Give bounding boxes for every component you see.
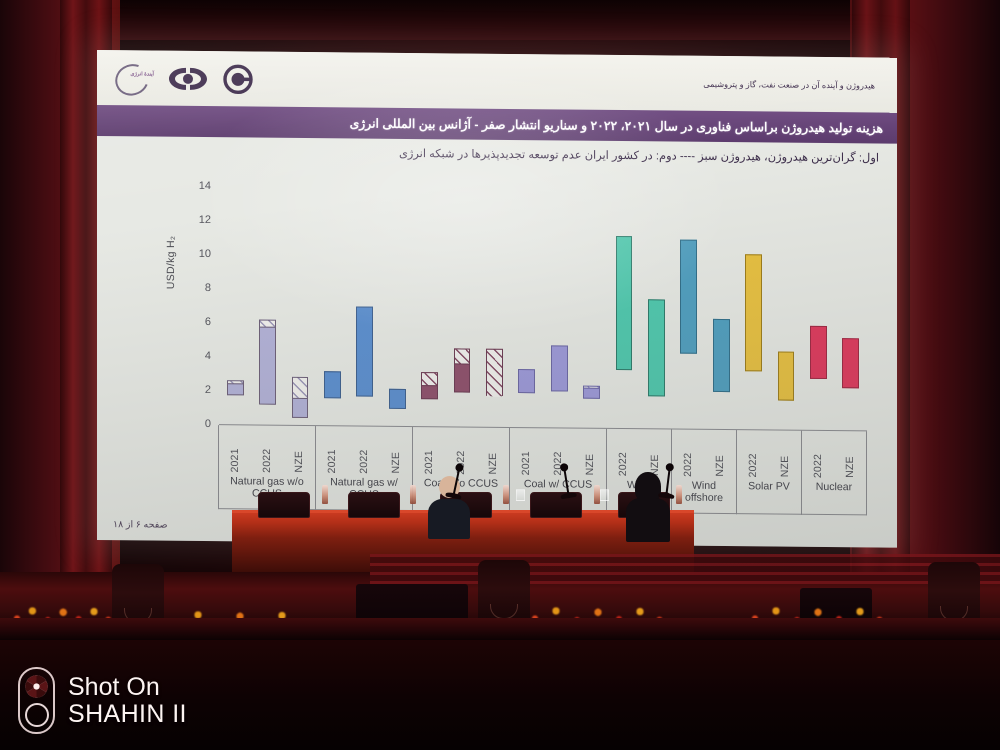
y-axis-tick: 6 xyxy=(185,316,211,328)
chart-bar xyxy=(745,254,762,371)
chart-bar xyxy=(842,338,859,387)
water-bottle xyxy=(322,485,328,504)
chart-bar-hatch-segment xyxy=(228,381,243,385)
chart-bar-hatch-segment xyxy=(455,349,470,364)
chart-bar-hatch-segment xyxy=(422,373,437,387)
x-axis-tick-label: 2022 xyxy=(747,453,759,477)
logo-ring-label: آیندهٔ انرژی xyxy=(130,71,154,78)
y-axis-tick: 0 xyxy=(185,418,211,430)
chart-bar xyxy=(259,319,276,404)
watermark-icon-stack xyxy=(18,667,55,734)
x-axis-tick-label: 2021 xyxy=(326,449,338,473)
camera-aperture-icon xyxy=(24,674,49,699)
chart-bar xyxy=(292,377,309,418)
chart-plot-area xyxy=(219,186,867,430)
y-axis-label: USD/kg H₂ xyxy=(165,236,177,290)
y-axis-tick: 14 xyxy=(185,180,211,192)
x-axis-tick-label: 2021 xyxy=(520,451,532,475)
x-axis-tick-label: NZE xyxy=(584,454,596,476)
water-bottle xyxy=(676,485,682,504)
x-axis-tick: 2021 xyxy=(510,428,542,478)
y-axis-tick: 4 xyxy=(185,350,211,362)
watermark-line-1: Shot On xyxy=(68,674,187,701)
drinking-glass xyxy=(600,489,609,501)
x-axis-tick-label: 2022 xyxy=(358,449,370,473)
x-axis-tick: NZE xyxy=(704,430,736,480)
x-axis-tick: 2021 xyxy=(413,427,445,477)
chart-bar xyxy=(713,318,730,391)
chart-bar xyxy=(486,349,503,397)
x-axis-tick-label: NZE xyxy=(293,451,305,473)
panelist-seated-left xyxy=(428,476,470,539)
x-axis-tick-label: 2022 xyxy=(682,452,694,476)
chart-bar xyxy=(518,369,535,393)
x-axis-tick: NZE xyxy=(283,426,315,476)
chart-bar-hatch-segment xyxy=(584,386,599,389)
auditorium-scene: آیندهٔ انرژی هیدروژن xyxy=(0,0,1000,750)
chart-bar xyxy=(583,385,600,399)
logo-group: آیندهٔ انرژی xyxy=(113,62,253,95)
camera-lens-icon xyxy=(25,703,49,727)
chart-bar xyxy=(648,299,665,396)
chart-bar xyxy=(227,380,244,395)
x-axis-tick: NZE xyxy=(477,428,509,478)
x-axis-tick: 2021 xyxy=(219,425,251,475)
panel-chair xyxy=(258,492,310,518)
x-axis-tick-row: 20212022NZE xyxy=(510,428,606,479)
x-axis-tick: 2022 xyxy=(802,431,834,481)
x-axis-tick: NZE xyxy=(834,431,866,481)
x-axis-tick-label: NZE xyxy=(714,455,726,477)
y-axis-tick: 10 xyxy=(185,248,211,260)
x-axis-tick-label: NZE xyxy=(779,456,791,478)
y-axis-tick: 12 xyxy=(185,214,211,226)
slide-subtitle: اول: گران‌ترین هیدروژن، هیدروژن سبز ----… xyxy=(399,146,879,165)
x-axis-tick: 2022 xyxy=(737,430,769,480)
e-circle-logo-icon xyxy=(223,64,253,94)
chart-bar-hatch-segment xyxy=(487,350,502,398)
chart-bar xyxy=(421,372,438,399)
x-axis-tick: 2022 xyxy=(542,428,574,478)
slide-title: هزینه تولید هیدروژن براساس فناوری در سال… xyxy=(350,115,883,135)
water-bottle xyxy=(410,485,416,504)
hydrogen-cost-chart: USD/kg H₂ 02468101214 20212022NZENatural… xyxy=(167,186,867,523)
y-axis-tick: 2 xyxy=(185,384,211,396)
x-axis-tick: NZE xyxy=(380,427,412,477)
watermark-line-2: SHAHIN II xyxy=(68,701,187,728)
x-axis-tick: NZE xyxy=(574,429,606,479)
x-axis-tick-row: 20212022NZE xyxy=(316,426,412,477)
water-bottle xyxy=(503,485,509,504)
x-axis-tick-label: NZE xyxy=(390,452,402,474)
x-axis-tick: 2022 xyxy=(348,426,380,476)
chart-bar xyxy=(454,348,471,392)
x-axis-tick-row: 2022NZE xyxy=(802,431,866,482)
projection-screen: آیندهٔ انرژی هیدروژن xyxy=(97,50,897,548)
x-axis-tick-row: 2022NZE xyxy=(737,430,801,481)
chart-bar xyxy=(616,236,633,370)
camera-watermark: Shot On SHAHIN II xyxy=(18,667,187,734)
x-axis-tick-row: 20212022NZE xyxy=(219,425,315,476)
x-axis-tick-label: 2022 xyxy=(812,454,824,478)
slide-header: آیندهٔ انرژی هیدروژن xyxy=(97,50,897,113)
drinking-glass xyxy=(516,489,525,501)
chart-bar xyxy=(551,346,568,392)
x-axis-tick: 2022 xyxy=(251,425,283,475)
x-axis-tick-label: 2022 xyxy=(261,448,273,472)
stage-edge xyxy=(0,618,1000,640)
slide-title-bar: هزینه تولید هیدروژن براساس فناوری در سال… xyxy=(97,105,897,144)
chart-bar xyxy=(778,351,795,400)
chart-bar xyxy=(356,307,373,397)
chart-bar-hatch-segment xyxy=(260,320,275,328)
x-axis-tick-label: NZE xyxy=(844,457,856,479)
x-axis-tick-label: 2021 xyxy=(229,448,241,472)
stage-backdrop-rail xyxy=(370,554,1000,584)
chart-bar xyxy=(389,388,406,409)
y-axis-tick: 8 xyxy=(185,282,211,294)
x-axis-tick-row: 2022NZE xyxy=(672,430,736,481)
x-axis-tick-label: 2021 xyxy=(423,450,435,474)
slide-header-text: هیدروژن و آینده آن در صنعت نفت، گاز و پت… xyxy=(253,74,881,90)
chart-bar xyxy=(810,326,827,379)
cc-monogram-logo-icon xyxy=(166,63,212,93)
x-axis-tick: NZE xyxy=(769,430,801,480)
watermark-text: Shot On SHAHIN II xyxy=(68,674,187,727)
chart-bar xyxy=(324,371,341,398)
chart-bar-hatch-segment xyxy=(293,378,308,399)
x-axis-tick: 2022 xyxy=(672,430,704,480)
panelist-seated-right xyxy=(626,472,670,542)
panel-chair xyxy=(348,492,400,518)
chart-bar xyxy=(680,240,697,354)
energy-ring-logo-icon: آیندهٔ انرژی xyxy=(113,62,155,94)
x-axis-tick-label: NZE xyxy=(487,453,499,475)
x-axis-tick: 2021 xyxy=(316,426,348,476)
